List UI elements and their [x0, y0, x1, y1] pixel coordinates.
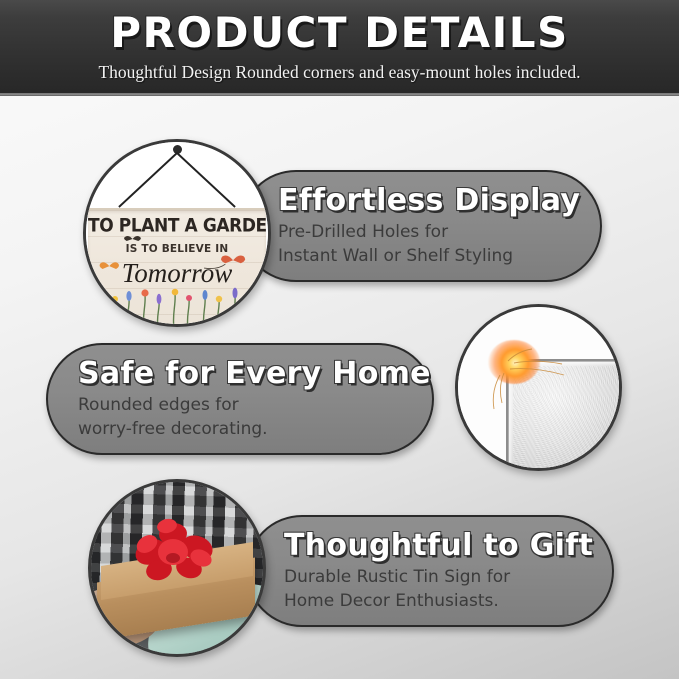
product-details-infographic: PRODUCT DETAILS Thoughtful Design Rounde…: [0, 0, 679, 679]
feature-description-line-1: Rounded edges for: [78, 394, 406, 418]
feature-description-line-1: Pre-Drilled Holes for: [278, 221, 574, 245]
header-banner: PRODUCT DETAILS Thoughtful Design Rounde…: [0, 0, 679, 96]
feature-description: Pre-Drilled Holes for Instant Wall or Sh…: [278, 221, 574, 269]
feature-description-line-2: Home Decor Enthusiasts.: [284, 590, 586, 614]
header-subtitle: Thoughtful Design Rounded corners and ea…: [0, 62, 679, 83]
feature-pill-thoughtful-to-gift: Thoughtful to Gift Durable Rustic Tin Si…: [246, 515, 614, 627]
feature-description-line-1: Durable Rustic Tin Sign for: [284, 566, 586, 590]
feature-description: Durable Rustic Tin Sign for Home Decor E…: [284, 566, 586, 614]
hanging-cord-icon: [86, 149, 268, 211]
feature-description-line-2: worry-free decorating.: [78, 418, 406, 442]
wood-plank-sign: TO PLANT A GARDEN IS TO BELIEVE IN Tomor…: [88, 208, 266, 327]
feature-title: Safe for Every Home: [78, 358, 406, 389]
butterfly-icons: [88, 210, 266, 324]
spark-lines-icon: [480, 343, 590, 421]
feature-title: Thoughtful to Gift: [284, 530, 586, 561]
gift-box-scene: [91, 482, 263, 654]
feature-text-block: Safe for Every Home Rounded edges for wo…: [48, 345, 432, 453]
feature-title: Effortless Display: [278, 185, 574, 216]
rounded-corner-scene: [458, 307, 619, 468]
red-bow-icon: [127, 518, 223, 584]
page-title: PRODUCT DETAILS: [0, 8, 679, 57]
feature-description: Rounded edges for worry-free decorating.: [78, 394, 406, 442]
feature-image-rounded-corner: [455, 304, 622, 471]
feature-text-block: Effortless Display Pre-Drilled Holes for…: [242, 172, 600, 280]
feature-pill-effortless-display: Effortless Display Pre-Drilled Holes for…: [240, 170, 602, 282]
feature-text-block: Thoughtful to Gift Durable Rustic Tin Si…: [248, 517, 612, 625]
feature-pill-safe-for-every-home: Safe for Every Home Rounded edges for wo…: [46, 343, 434, 455]
feature-description-line-2: Instant Wall or Shelf Styling: [278, 245, 574, 269]
feature-image-garden-sign: TO PLANT A GARDEN IS TO BELIEVE IN Tomor…: [83, 139, 271, 327]
feature-image-gift-box: [88, 479, 266, 657]
garden-sign-scene: TO PLANT A GARDEN IS TO BELIEVE IN Tomor…: [86, 142, 268, 324]
